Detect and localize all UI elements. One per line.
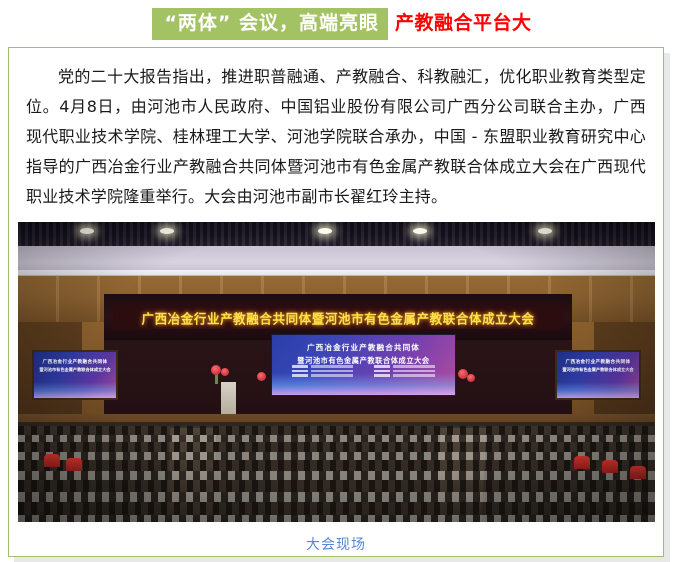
headline-inner: “两体” 会议，高端亮眼 产教融合平台大 <box>152 8 535 40</box>
flower-arrangement <box>467 374 475 382</box>
main-screen-detail-col <box>292 365 353 377</box>
ceiling-spotlight <box>160 228 174 234</box>
wall-trim <box>18 270 655 275</box>
flower-arrangement <box>221 368 229 376</box>
photo-caption: 大会现场 <box>9 534 663 554</box>
ceiling-spotlight <box>413 228 427 234</box>
seat-rows <box>18 426 655 522</box>
detail-line <box>292 365 353 368</box>
attendee-red <box>602 460 618 473</box>
audience-row <box>18 442 655 452</box>
audience-row <box>18 492 655 502</box>
side-screen-right-line2: 暨河池市有色金属产教联合体成立大会 <box>557 367 639 373</box>
audience-row <box>18 515 655 522</box>
side-screen-left-line1: 广西冶金行业产教融合共同体 <box>34 359 116 365</box>
article-paragraph: 党的二十大报告指出，推进职普融通、产教融合、科教融汇，优化职业教育类型定位。4月… <box>26 62 646 212</box>
detail-line <box>292 374 353 377</box>
audience-row <box>18 452 655 460</box>
detail-line <box>292 370 353 373</box>
article-page: “两体” 会议，高端亮眼 产教融合平台大 党的二十大报告指出，推进职普融通、产教… <box>0 0 688 562</box>
led-banner-text: 广西冶金行业产教融合共同体暨河池市有色金属产教联合体成立大会 <box>141 307 534 327</box>
headline-red-text: 产教融合平台大 <box>388 8 536 40</box>
side-screen-right: 广西冶金行业产教融合共同体 暨河池市有色金属产教联合体成立大会 <box>555 350 641 400</box>
main-screen-details <box>272 365 455 377</box>
detail-line <box>374 374 435 377</box>
audience-row <box>18 480 655 492</box>
audience-row <box>18 426 655 435</box>
podium <box>221 382 236 414</box>
headline-green-text: “两体” 会议，高端亮眼 <box>152 8 388 40</box>
attendee-red <box>630 466 646 479</box>
ceiling <box>18 222 655 246</box>
side-screen-left-line2: 暨河池市有色金属产教联合体成立大会 <box>34 367 116 373</box>
headline-banner: “两体” 会议，高端亮眼 产教融合平台大 <box>0 0 688 47</box>
flower-arrangement <box>211 365 221 375</box>
attendee-red <box>66 458 82 471</box>
main-screen-detail-col <box>374 365 435 377</box>
ceiling-spotlight <box>80 228 94 234</box>
ceiling-spotlight <box>538 228 552 234</box>
flower-arrangement <box>257 372 266 381</box>
photo-scene: 广西冶金行业产教融合共同体暨河池市有色金属产教联合体成立大会 广西冶金行业产教融… <box>18 222 655 522</box>
conference-photo: 广西冶金行业产教融合共同体暨河池市有色金属产教联合体成立大会 广西冶金行业产教融… <box>18 222 655 522</box>
attendee-red <box>574 456 590 469</box>
attendee-red <box>44 454 60 467</box>
detail-line <box>374 370 435 373</box>
article-card: 党的二十大报告指出，推进职普融通、产教融合、科教融汇，优化职业教育类型定位。4月… <box>8 47 664 557</box>
led-banner: 广西冶金行业产教融合共同体暨河池市有色金属产教联合体成立大会 <box>113 305 563 329</box>
side-screen-right-line1: 广西冶金行业产教融合共同体 <box>557 359 639 365</box>
audience-row <box>18 435 655 442</box>
ceiling-spotlight <box>318 228 332 234</box>
article-body: 党的二十大报告指出，推进职普融通、产教融合、科教融汇，优化职业教育类型定位。4月… <box>9 48 663 212</box>
detail-line <box>374 365 435 368</box>
audience-row <box>18 471 655 480</box>
main-screen-line1: 广西冶金行业产教融合共同体 <box>307 342 420 353</box>
side-screen-left: 广西冶金行业产教融合共同体 暨河池市有色金属产教联合体成立大会 <box>32 350 118 400</box>
audience-row <box>18 502 655 515</box>
main-stage-screen: 广西冶金行业产教融合共同体 暨河池市有色金属产教联合体成立大会 <box>271 334 456 396</box>
audience-row <box>18 460 655 471</box>
